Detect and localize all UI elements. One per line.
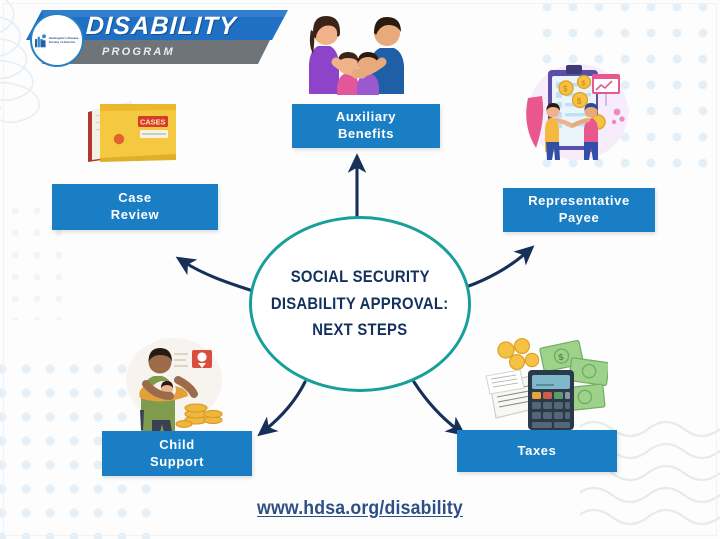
step-box-child-support[interactable]: Child Support — [102, 431, 252, 476]
banner-title: DISABILITY — [85, 12, 237, 41]
arrow-to-representative-payee — [466, 252, 527, 287]
arrow-to-taxes — [414, 382, 458, 430]
svg-text:$: $ — [563, 85, 568, 94]
arrow-to-child-support — [265, 382, 305, 430]
svg-text:$: $ — [581, 78, 585, 87]
step-label-line1: Case — [111, 190, 159, 207]
header-banner: DISABILITY PROGRAM Huntington's Disease … — [20, 6, 290, 72]
step-label-line2: Support — [150, 454, 204, 471]
step-label-line2: Benefits — [336, 126, 396, 143]
family-illustration — [300, 6, 420, 100]
step-label-line2: Payee — [528, 210, 630, 227]
step-box-auxiliary-benefits[interactable]: Auxiliary Benefits — [292, 104, 440, 148]
banner-subtitle: PROGRAM — [102, 46, 175, 58]
logo-line-2: Society of America — [49, 40, 79, 44]
svg-text:$: $ — [577, 96, 582, 106]
step-box-taxes[interactable]: Taxes — [457, 430, 617, 472]
infographic-canvas: DISABILITY PROGRAM Huntington's Disease … — [0, 0, 720, 539]
hub-line-3: NEXT STEPS — [312, 322, 407, 339]
hub-line-2: DISABILITY APPROVAL: — [271, 296, 449, 313]
step-box-representative-payee[interactable]: Representative Payee — [503, 188, 655, 232]
step-label-line2: Review — [111, 207, 159, 224]
case-folder-illustration: CASES — [78, 92, 182, 164]
footer-url[interactable]: www.hdsa.org/disability — [25, 498, 695, 520]
hub-line-1: SOCIAL SECURITY — [290, 269, 429, 286]
hdsa-logo-icon — [35, 33, 47, 47]
step-label-line1: Representative — [528, 193, 630, 210]
clipboard-coins-illustration: $ $ $ — [522, 58, 634, 162]
parent-baby-coins-illustration — [118, 336, 230, 432]
calculator-money-illustration: $ — [484, 332, 608, 436]
step-label-line1: Taxes — [518, 443, 557, 460]
folder-tab-label: CASES — [140, 118, 166, 127]
step-label-line1: Child — [150, 437, 204, 454]
step-label-line1: Auxiliary — [336, 109, 396, 126]
arrow-to-case-review — [184, 262, 250, 290]
step-box-case-review[interactable]: Case Review — [52, 184, 218, 230]
center-hub: SOCIAL SECURITY DISABILITY APPROVAL: NEX… — [249, 216, 471, 392]
hdsa-logo-badge: Huntington's Disease Society of America — [30, 13, 84, 67]
